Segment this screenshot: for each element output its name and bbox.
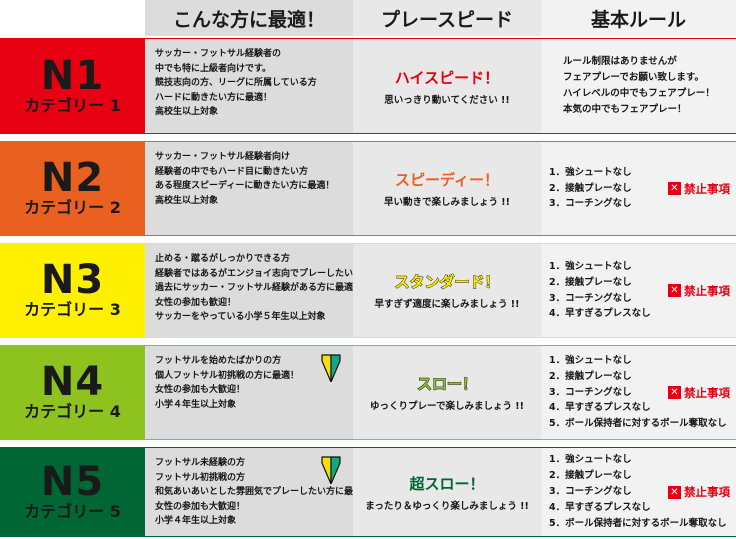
- suited-for-cell: 止める・蹴るがしっかりできる方経験者ではあるがエンジョイ志向でプレーしたい方過去…: [145, 243, 353, 338]
- suited-for-cell: フットサル未経験の方フットサル初挑戦の方和気あいあいとした雰囲気でプレーしたい方…: [145, 447, 353, 537]
- table-row-n1[interactable]: N1カテゴリー 1サッカー・フットサル経験者の中でも特に上級者向けです。競技志向…: [0, 38, 736, 134]
- play-speed-subtitle: ゆっくりプレーで楽しみましょう !!: [370, 398, 524, 412]
- category-code: N3: [0, 261, 145, 299]
- suited-for-line: 経験者ではあるがエンジョイ志向でプレーしたい方: [155, 267, 353, 282]
- forbidden-items-label: 禁止事項: [684, 283, 730, 299]
- forbidden-x-icon: ✕: [668, 284, 681, 297]
- suited-for-cell: フットサルを始めたばかりの方個人フットサル初挑戦の方に最適！女性の参加も大歓迎！…: [145, 345, 353, 440]
- play-speed-title: スロー！: [417, 373, 477, 394]
- suited-for-line: 過去にサッカー・フットサル経験がある方に最適！: [155, 281, 353, 296]
- play-speed-cell: スピーディー！早い動きで楽しみましょう !!: [353, 141, 541, 236]
- table-row-n2[interactable]: N2カテゴリー 2サッカー・フットサル経験者向け経験者の中でもハード目に動きたい…: [0, 141, 736, 236]
- forbidden-items-badge: ✕禁止事項: [668, 484, 730, 500]
- basic-rule-line: 1．強シュートなし: [549, 452, 736, 468]
- basic-rule-line: 4．早すぎるプレスなし: [549, 306, 736, 322]
- basic-rule-line: 2．接触プレーなし: [549, 369, 736, 385]
- suited-for-line: ハードに動きたい方に最適！: [155, 91, 353, 106]
- play-speed-subtitle: まったり＆ゆっくり楽しみましょう !!: [365, 498, 529, 512]
- category-badge-n3[interactable]: N3カテゴリー 3: [0, 243, 145, 338]
- suited-for-line: 小学４年生以上対象: [155, 514, 353, 529]
- basic-rules-cell: ルール制限はありませんがフェアプレーでお願い致します。ハイレベルの中でもフェアプ…: [541, 38, 736, 134]
- suited-for-line: 和気あいあいとした雰囲気でプレーしたい方に最適！: [155, 485, 353, 500]
- header-basic-rules: 基本ルール: [541, 0, 736, 36]
- category-label: カテゴリー 2: [0, 200, 145, 216]
- header-play-speed: プレースピード: [353, 0, 541, 36]
- play-speed-cell: ハイスピード！思いっきり動いてください !!: [353, 38, 541, 134]
- suited-for-line: サッカーをやっている小学５年生以上対象: [155, 310, 353, 325]
- suited-for-line: 女性の参加も大歓迎！: [155, 500, 353, 515]
- forbidden-x-icon: ✕: [668, 386, 681, 399]
- basic-rule-line: 2．接触プレーなし: [549, 468, 736, 484]
- category-table: こんな方に最適！ プレースピード 基本ルール N1カテゴリー 1サッカー・フット…: [0, 0, 736, 539]
- basic-rule-line: 1．強シュートなし: [549, 353, 736, 369]
- category-label: カテゴリー 3: [0, 302, 145, 318]
- basic-rule-line: ルール制限はありませんが: [563, 54, 736, 70]
- table-row-n4[interactable]: N4カテゴリー 4フットサルを始めたばかりの方個人フットサル初挑戦の方に最適！女…: [0, 345, 736, 440]
- suited-for-line: 経験者の中でもハード目に動きたい方: [155, 165, 353, 180]
- basic-rule-line: 5．ボール保持者に対するボール奪取なし: [549, 416, 736, 432]
- basic-rule-line: 1．強シュートなし: [549, 165, 736, 181]
- basic-rule-line: 3．コーチングなし: [549, 196, 736, 212]
- category-label: カテゴリー 4: [0, 404, 145, 420]
- basic-rule-line: ハイレベルの中でもフェアプレー！: [563, 86, 736, 102]
- category-code: N4: [0, 363, 145, 401]
- suited-for-line: 止める・蹴るがしっかりできる方: [155, 252, 353, 267]
- table-row-n5[interactable]: N5カテゴリー 5フットサル未経験の方フットサル初挑戦の方和気あいあいとした雰囲…: [0, 447, 736, 537]
- category-code: N5: [0, 463, 145, 501]
- forbidden-items-label: 禁止事項: [684, 385, 730, 401]
- category-code: N2: [0, 159, 145, 197]
- suited-for-line: 高校生以上対象: [155, 194, 353, 209]
- suited-for-line: 女性の参加も歓迎！: [155, 296, 353, 311]
- shoshinsha-wakaba-mark-icon: [321, 354, 341, 382]
- basic-rule-line: 5．ボール保持者に対するボール奪取なし: [549, 516, 736, 532]
- basic-rule-line: 1．強シュートなし: [549, 259, 736, 275]
- play-speed-cell: スロー！ゆっくりプレーで楽しみましょう !!: [353, 345, 541, 440]
- play-speed-title: ハイスピード！: [395, 67, 499, 88]
- suited-for-line: サッカー・フットサル経験者向け: [155, 150, 353, 165]
- suited-for-cell: サッカー・フットサル経験者の中でも特に上級者向けです。競技志向の方、リーグに所属…: [145, 38, 353, 134]
- basic-rule-line: 本気の中でもフェアプレー！: [563, 102, 736, 118]
- basic-rule-line: 4．早すぎるプレスなし: [549, 500, 736, 516]
- forbidden-items-label: 禁止事項: [684, 181, 730, 197]
- basic-rules-cell: 1．強シュートなし2．接触プレーなし3．コーチングなし4．早すぎるプレスなし✕禁…: [541, 243, 736, 338]
- basic-rules-cell: 1．強シュートなし2．接触プレーなし3．コーチングなし✕禁止事項: [541, 141, 736, 236]
- table-row-n3[interactable]: N3カテゴリー 3止める・蹴るがしっかりできる方経験者ではあるがエンジョイ志向で…: [0, 243, 736, 338]
- category-badge-n4[interactable]: N4カテゴリー 4: [0, 345, 145, 440]
- play-speed-subtitle: 思いっきり動いてください !!: [384, 92, 509, 106]
- category-badge-n2[interactable]: N2カテゴリー 2: [0, 141, 145, 236]
- basic-rule-line: フェアプレーでお願い致します。: [563, 70, 736, 86]
- category-label: カテゴリー 5: [0, 504, 145, 520]
- header-spacer: [0, 0, 145, 36]
- table-header: こんな方に最適！ プレースピード 基本ルール: [0, 0, 736, 36]
- basic-rule-line: 4．早すぎるプレスなし: [549, 400, 736, 416]
- play-speed-subtitle: 早すぎず適度に楽しみましょう !!: [375, 296, 520, 310]
- forbidden-x-icon: ✕: [668, 486, 681, 499]
- play-speed-cell: スタンダード！早すぎず適度に楽しみましょう !!: [353, 243, 541, 338]
- category-code: N1: [0, 57, 145, 95]
- suited-for-cell: サッカー・フットサル経験者向け経験者の中でもハード目に動きたい方ある程度スピーデ…: [145, 141, 353, 236]
- play-speed-cell: 超スロー！まったり＆ゆっくり楽しみましょう !!: [353, 447, 541, 537]
- category-badge-n1[interactable]: N1カテゴリー 1: [0, 38, 145, 134]
- suited-for-line: 女性の参加も大歓迎！: [155, 383, 353, 398]
- forbidden-items-badge: ✕禁止事項: [668, 181, 730, 197]
- forbidden-items-label: 禁止事項: [684, 484, 730, 500]
- header-suited-for: こんな方に最適！: [145, 0, 353, 36]
- play-speed-title: スタンダード！: [394, 271, 499, 292]
- suited-for-line: サッカー・フットサル経験者の: [155, 47, 353, 62]
- suited-for-line: 中でも特に上級者向けです。: [155, 62, 353, 77]
- suited-for-line: ある程度スピーディーに動きたい方に最適！: [155, 179, 353, 194]
- play-speed-subtitle: 早い動きで楽しみましょう !!: [384, 194, 510, 208]
- basic-rules-cell: 1．強シュートなし2．接触プレーなし3．コーチングなし4．早すぎるプレスなし5．…: [541, 447, 736, 537]
- category-label: カテゴリー 1: [0, 98, 145, 114]
- suited-for-line: 高校生以上対象: [155, 105, 353, 120]
- play-speed-title: スピーディー！: [395, 169, 499, 190]
- suited-for-line: 小学４年生以上対象: [155, 398, 353, 413]
- shoshinsha-wakaba-mark-icon: [321, 456, 341, 484]
- category-badge-n5[interactable]: N5カテゴリー 5: [0, 447, 145, 537]
- forbidden-items-badge: ✕禁止事項: [668, 283, 730, 299]
- forbidden-x-icon: ✕: [668, 182, 681, 195]
- suited-for-line: 競技志向の方、リーグに所属している方: [155, 76, 353, 91]
- play-speed-title: 超スロー！: [409, 473, 484, 494]
- forbidden-items-badge: ✕禁止事項: [668, 385, 730, 401]
- basic-rules-cell: 1．強シュートなし2．接触プレーなし3．コーチングなし4．早すぎるプレスなし5．…: [541, 345, 736, 440]
